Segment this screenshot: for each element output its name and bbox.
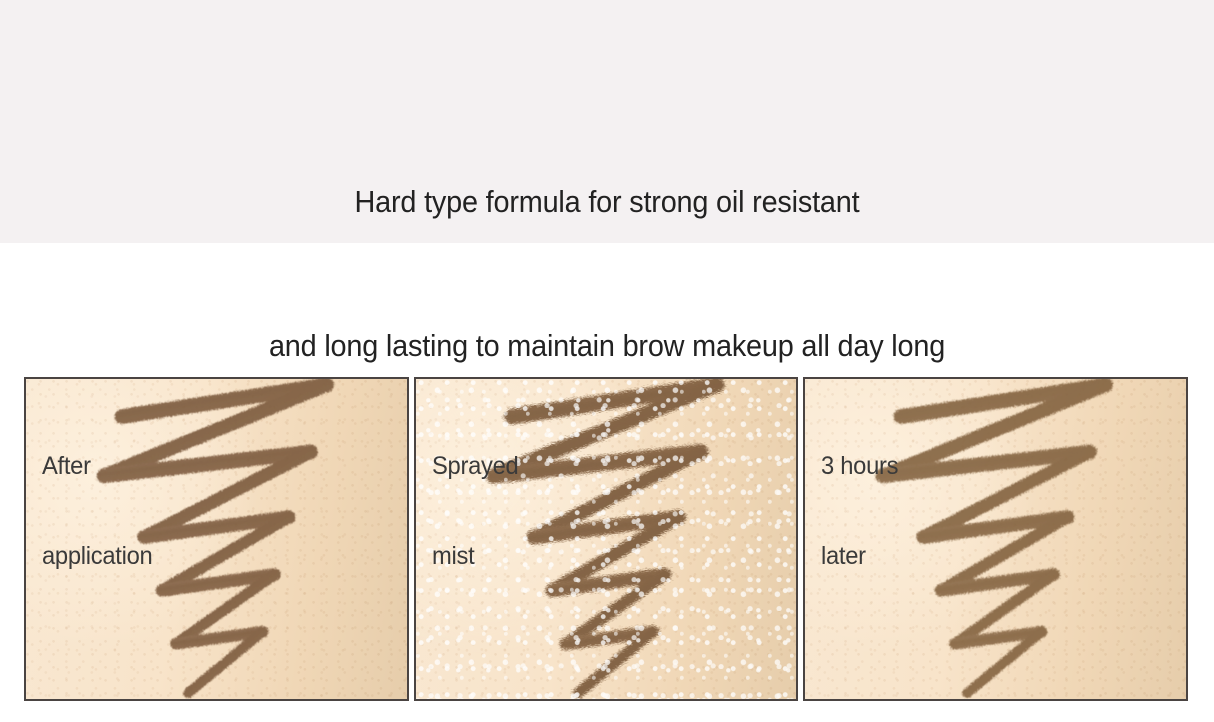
header-band: Hard type formula for strong oil resista… bbox=[0, 0, 1214, 243]
headline-line-1: Hard type formula for strong oil resista… bbox=[42, 178, 1171, 226]
panel-label-line-2: application bbox=[42, 541, 152, 571]
comparison-panel-sprayed-mist: Sprayed mist bbox=[414, 377, 799, 701]
headline-line-2: and long lasting to maintain brow makeup… bbox=[42, 322, 1171, 370]
panel-label-line-2: mist bbox=[432, 541, 518, 571]
panel-label-line-2: later bbox=[821, 541, 898, 571]
panel-label-after-application: After application bbox=[42, 391, 152, 631]
panel-label-sprayed-mist: Sprayed mist bbox=[432, 391, 518, 631]
panel-label-line-1: Sprayed bbox=[432, 451, 518, 481]
comparison-panel-after-application: After application bbox=[24, 377, 409, 701]
panel-label-line-1: After bbox=[42, 451, 152, 481]
panel-label-3-hours-later: 3 hours later bbox=[821, 391, 898, 631]
comparison-panel-3-hours-later: 3 hours later bbox=[803, 377, 1188, 701]
panel-label-line-1: 3 hours bbox=[821, 451, 898, 481]
comparison-panel-strip: After application bbox=[24, 377, 1188, 701]
